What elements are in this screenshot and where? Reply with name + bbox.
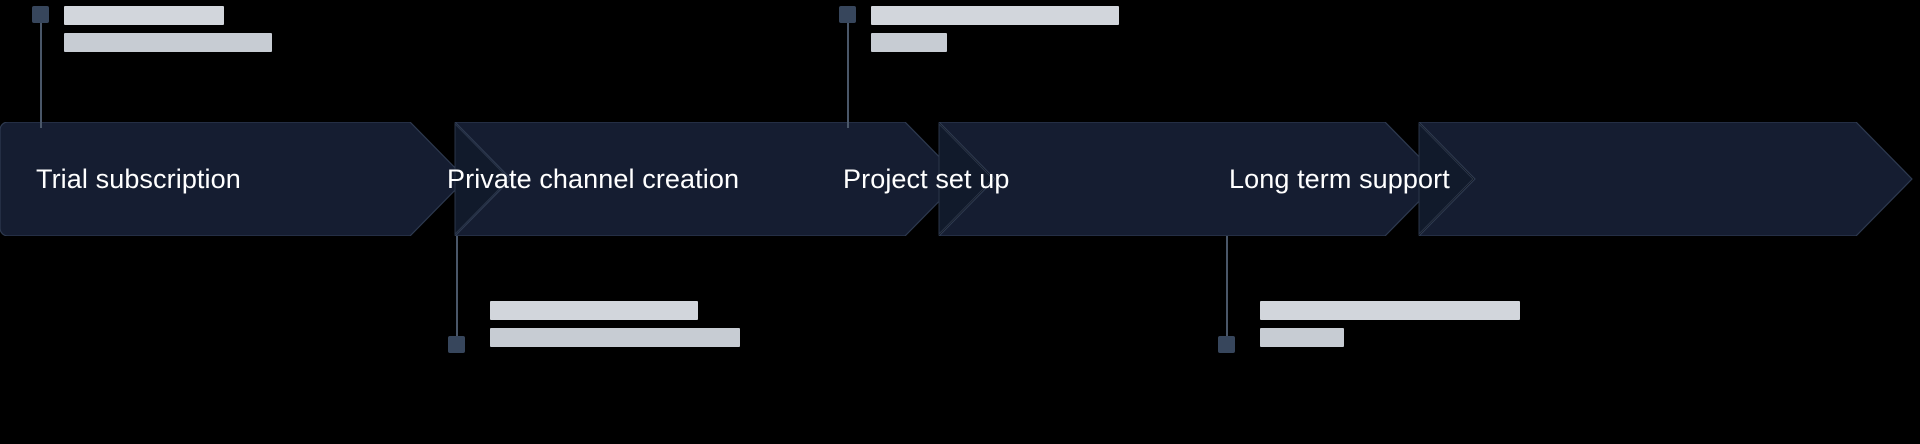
process-flow: Trial subscription Private channel creat…	[0, 122, 1920, 236]
stage-shape-4[interactable]	[1419, 122, 1912, 236]
redacted-text-line	[871, 6, 1119, 25]
annotation-callout-4[interactable]: annotation-4	[1180, 236, 1600, 444]
annotation-connector-1	[40, 16, 42, 128]
annotation-text-3	[490, 301, 740, 347]
annotation-handle-3[interactable]	[448, 336, 465, 353]
annotation-connector-2	[847, 16, 849, 128]
annotation-3-status: annotation-3	[430, 236, 431, 237]
annotation-connector-4	[1226, 236, 1228, 340]
annotation-handle-1[interactable]	[32, 6, 49, 23]
stage-shape-2[interactable]	[455, 122, 961, 236]
redacted-text-line	[871, 33, 947, 52]
annotation-2-status: annotation-2	[820, 0, 821, 1]
annotation-4-status: annotation-4	[1180, 236, 1181, 237]
redacted-text-line	[64, 33, 272, 52]
redacted-text-line	[64, 6, 224, 25]
diagram-canvas: Trial subscription Private channel creat…	[0, 0, 1920, 444]
redacted-text-line	[1260, 301, 1520, 320]
redacted-text-line	[1260, 328, 1344, 347]
redacted-text-line	[490, 301, 698, 320]
stage-shape-1[interactable]	[0, 122, 466, 236]
annotation-text-1	[64, 6, 272, 52]
annotation-callout-2[interactable]: annotation-2	[820, 0, 1140, 130]
annotation-1-status: annotation-1	[0, 0, 1, 1]
annotation-handle-2[interactable]	[839, 6, 856, 23]
redacted-text-line	[490, 328, 740, 347]
annotation-connector-3	[456, 236, 458, 340]
stage-shape-3[interactable]	[939, 122, 1441, 236]
annotation-text-2	[871, 6, 1119, 52]
annotation-handle-4[interactable]	[1218, 336, 1235, 353]
annotation-callout-1[interactable]: annotation-1	[0, 0, 320, 130]
annotation-text-4	[1260, 301, 1520, 347]
process-flow-shapes	[0, 122, 1920, 236]
annotation-callout-3[interactable]: annotation-3	[430, 236, 790, 444]
